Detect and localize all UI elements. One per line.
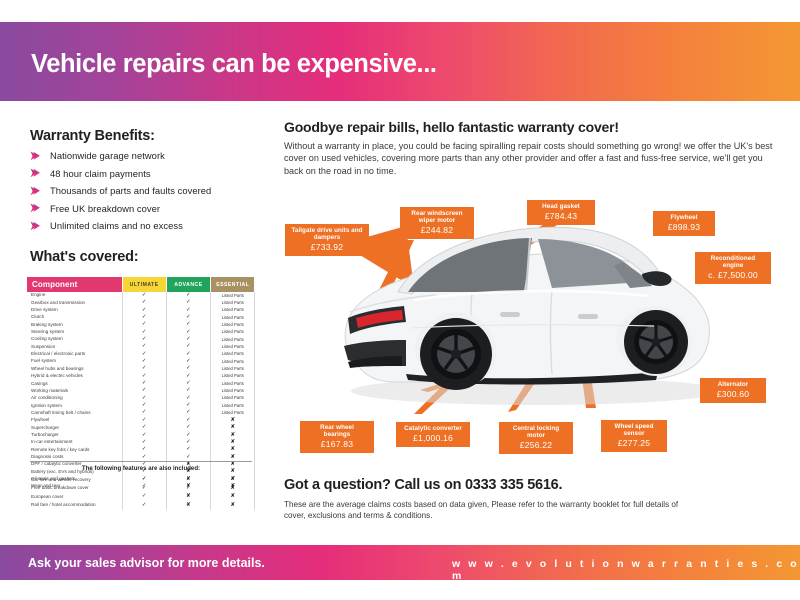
table-row: Steering system✓✓Listed Parts [27,329,255,336]
callout-label: Flywheel [659,214,709,221]
cell-tick: ✓ [122,424,166,431]
callout-label: Head gasket [533,203,589,210]
right-body-text: Without a warranty in place, you could b… [284,140,778,177]
cell-component: Diagnosis costs [27,454,122,461]
table-row: Working materials✓✓Listed Parts [27,387,255,394]
cell-tick: ✓ [122,493,166,501]
cell-text: Listed Parts [211,365,255,372]
cell-tick: ✓ [122,432,166,439]
extras-table: Car hire and vehicle recovery✓✓✘Free bas… [27,476,255,510]
cell-tick: ✓ [166,402,210,409]
table-row: Braking system✓✓Listed Parts [27,321,255,328]
cell-component: Gearbox and transmission [27,299,122,306]
table-row: Camshaft timing belt / chains✓✓Listed Pa… [27,410,255,417]
cell-text: Listed Parts [211,373,255,380]
cell-tick: ✓ [166,314,210,321]
cell-text: Listed Parts [211,329,255,336]
callout-amount: c. £7,500.00 [701,271,765,281]
cell-cross: ✘ [211,439,255,446]
cell-text: Listed Parts [211,292,255,299]
cell-tick: ✓ [122,484,166,492]
cell-component: Flywheel [27,417,122,424]
cell-component: Camshaft timing belt / chains [27,410,122,417]
cell-tick: ✓ [166,336,210,343]
warranty-benefits-list: Nationwide garage network48 hour claim p… [30,147,280,235]
coverage-table-container: Component ULTIMATE ADVANCE ESSENTIAL Eng… [27,277,255,490]
cell-tick: ✓ [122,314,166,321]
table-row: Flywheel✓✓✘ [27,417,255,424]
benefit-label: Thousands of parts and faults covered [50,185,211,196]
callout-amount: £784.43 [533,212,589,222]
cell-tick: ✓ [166,343,210,350]
whats-covered-heading: What's covered: [30,249,138,265]
callout-label: Alternator [706,381,760,388]
table-row: Free basic breakdown cover✓✓✘ [27,484,255,492]
benefit-item: Thousands of parts and faults covered [30,182,280,200]
cell-tick: ✓ [122,343,166,350]
cell-cross: ✘ [211,424,255,431]
callout-label: Rear wheel bearings [306,424,368,438]
cell-text: Listed Parts [211,351,255,358]
cell-cross: ✘ [166,501,210,509]
table-row: Car hire and vehicle recovery✓✓✘ [27,476,255,484]
right-heading: Goodbye repair bills, hello fantastic wa… [284,119,619,135]
table-row: European cover✓✘✘ [27,493,255,501]
benefit-label: Nationwide garage network [50,150,165,161]
col-header-component: Component [27,277,122,292]
cell-component: Electrical / electronic parts [27,351,122,358]
brochure-page: Vehicle repairs can be expensive... Warr… [0,0,800,600]
cell-cross: ✘ [166,493,210,501]
cell-component: In-car entertainment [27,439,122,446]
cell-cross: ✘ [211,432,255,439]
cell-component: Braking system [27,321,122,328]
benefit-label: Unlimited claims and no excess [50,220,183,231]
cell-text: Listed Parts [211,321,255,328]
table-row: Cooling system✓✓Listed Parts [27,336,255,343]
cell-tick: ✓ [166,446,210,453]
extras-table-container: Car hire and vehicle recovery✓✓✘Free bas… [27,476,255,510]
benefit-item: Nationwide garage network [30,147,280,165]
table-row: Rail fare / hotel accommodation✓✘✘ [27,501,255,509]
cell-tick: ✓ [166,292,210,299]
callout-amount: £898.93 [659,223,709,233]
cell-tick: ✓ [166,454,210,461]
callout-label: Rear windscreen wiper motor [406,210,468,224]
chevron-arrow-icon [30,151,50,161]
cell-component: Working materials [27,387,122,394]
callout-amount: £1,000.16 [402,434,464,444]
col-header-essential: ESSENTIAL [211,277,255,292]
cell-text: Listed Parts [211,402,255,409]
cell-tick: ✓ [122,417,166,424]
cell-tick: ✓ [166,484,210,492]
cell-tick: ✓ [166,476,210,484]
cell-text: Listed Parts [211,380,255,387]
cell-cross: ✘ [211,476,255,484]
table-row: Suspension✓✓Listed Parts [27,343,255,350]
cell-cross: ✘ [211,493,255,501]
cell-tick: ✓ [166,432,210,439]
cell-component: Air conditioning [27,395,122,402]
cell-cross: ✘ [211,417,255,424]
table-row: Drive system✓✓Listed Parts [27,307,255,314]
callout-amount: £277.25 [607,439,661,449]
benefit-item: Unlimited claims and no excess [30,217,280,235]
callout-central-locking-motor: Central locking motor£256.22 [499,422,573,454]
cell-component: Car hire and vehicle recovery [27,476,122,484]
callout-alternator: Alternator£300.60 [700,378,766,403]
coverage-table-header-row: Component ULTIMATE ADVANCE ESSENTIAL [27,277,255,292]
table-row: Clutch✓✓Listed Parts [27,314,255,321]
cell-tick: ✓ [166,299,210,306]
cell-cross: ✘ [211,484,255,492]
callout-flywheel: Flywheel£898.93 [653,211,715,236]
cell-tick: ✓ [166,395,210,402]
table-row: Hybrid & electric vehicles✓✓Listed Parts [27,373,255,380]
cell-tick: ✓ [166,439,210,446]
cell-tick: ✓ [122,365,166,372]
cell-tick: ✓ [166,410,210,417]
cell-tick: ✓ [122,358,166,365]
cell-component: Steering system [27,329,122,336]
cell-component: Remote key fobs / key cards [27,446,122,453]
cell-tick: ✓ [122,380,166,387]
callout-label: Catalytic converter [402,425,464,432]
cell-tick: ✓ [122,329,166,336]
footer-advisor-text: Ask your sales advisor for more details. [28,556,265,570]
cell-component: Supercharger [27,424,122,431]
callout-reconditioned-engine: Reconditioned enginec. £7,500.00 [695,252,771,284]
cell-text: Listed Parts [211,387,255,394]
callout-tailgate-drive-units: Tailgate drive units and dampers£733.92 [285,224,369,256]
callout-amount: £300.60 [706,390,760,400]
cell-tick: ✓ [166,417,210,424]
cell-component: Engine [27,292,122,299]
cell-tick: ✓ [166,351,210,358]
cell-component: Wheel hubs and bearings [27,365,122,372]
coverage-table: Component ULTIMATE ADVANCE ESSENTIAL Eng… [27,277,255,490]
cell-component: Suspension [27,343,122,350]
benefit-label: Free UK breakdown cover [50,203,160,214]
cell-tick: ✓ [122,292,166,299]
cell-tick: ✓ [166,329,210,336]
cell-tick: ✓ [166,365,210,372]
chevron-arrow-icon [30,203,50,213]
table-row: In-car entertainment✓✓✘ [27,439,255,446]
cell-tick: ✓ [122,336,166,343]
cell-component: Free basic breakdown cover [27,484,122,492]
table-row: Engine✓✓Listed Parts [27,292,255,299]
table-row: Fuel system✓✓Listed Parts [27,358,255,365]
cell-text: Listed Parts [211,410,255,417]
extras-divider [30,461,252,462]
benefit-label: 48 hour claim payments [50,168,151,179]
cell-text: Listed Parts [211,314,255,321]
cell-tick: ✓ [122,446,166,453]
chevron-arrow-icon [30,221,50,231]
table-row: Casings✓✓Listed Parts [27,380,255,387]
table-row: Air conditioning✓✓Listed Parts [27,395,255,402]
table-row: Supercharger✓✓✘ [27,424,255,431]
callout-label: Wheel speed sensor [607,423,661,437]
cell-tick: ✓ [166,373,210,380]
cell-tick: ✓ [166,307,210,314]
cell-tick: ✓ [122,402,166,409]
cell-tick: ✓ [122,476,166,484]
col-header-ultimate: ULTIMATE [122,277,166,292]
cell-tick: ✓ [166,380,210,387]
callout-amount: £733.92 [291,243,363,253]
benefit-item: 48 hour claim payments [30,165,280,183]
cell-text: Listed Parts [211,395,255,402]
callout-amount: £244.82 [406,226,468,236]
cell-tick: ✓ [122,321,166,328]
callout-wheel-speed-sensor: Wheel speed sensor£277.25 [601,420,667,452]
cell-component: European cover [27,493,122,501]
disclaimer-text: These are the average claims costs based… [284,499,684,521]
table-row: Wheel hubs and bearings✓✓Listed Parts [27,365,255,372]
cell-cross: ✘ [211,501,255,509]
cell-component: Cooling system [27,336,122,343]
callout-label: Central locking motor [505,425,567,439]
benefit-item: Free UK breakdown cover [30,200,280,218]
table-row: Turbocharger✓✓✘ [27,432,255,439]
col-header-advance: ADVANCE [166,277,210,292]
cell-tick: ✓ [122,387,166,394]
cell-tick: ✓ [122,351,166,358]
table-row: Gearbox and transmission✓✓Listed Parts [27,299,255,306]
cell-component: Ignition system [27,402,122,409]
cell-tick: ✓ [122,299,166,306]
cell-tick: ✓ [122,307,166,314]
table-row: Electrical / electronic parts✓✓Listed Pa… [27,351,255,358]
cell-component: Fuel system [27,358,122,365]
warranty-benefits-heading: Warranty Benefits: [30,128,155,144]
callout-rear-windscreen-wiper-motor: Rear windscreen wiper motor£244.82 [400,207,474,239]
cell-component: Hybrid & electric vehicles [27,373,122,380]
table-row: Remote key fobs / key cards✓✓✘ [27,446,255,453]
cell-tick: ✓ [122,501,166,509]
cell-component: Rail fare / hotel accommodation [27,501,122,509]
callout-amount: £167.83 [306,440,368,450]
cell-tick: ✓ [122,410,166,417]
cell-tick: ✓ [166,387,210,394]
cell-tick: ✓ [122,439,166,446]
cell-tick: ✓ [166,321,210,328]
page-title: Vehicle repairs can be expensive... [31,50,437,79]
callout-label: Tailgate drive units and dampers [291,227,363,241]
callout-label: Reconditioned engine [701,255,765,269]
chevron-arrow-icon [30,168,50,178]
callout-head-gasket: Head gasket£784.43 [527,200,595,225]
cta-heading: Got a question? Call us on 0333 335 5616… [284,477,562,493]
callout-amount: £256.22 [505,441,567,451]
cell-text: Listed Parts [211,299,255,306]
cell-component: Turbocharger [27,432,122,439]
extras-heading: The following features are also included… [27,465,255,472]
cell-tick: ✓ [166,424,210,431]
cell-component: Casings [27,380,122,387]
chevron-arrow-icon [30,186,50,196]
cell-text: Listed Parts [211,336,255,343]
cell-tick: ✓ [122,395,166,402]
callout-rear-wheel-bearings: Rear wheel bearings£167.83 [300,421,374,453]
cell-tick: ✓ [122,454,166,461]
cell-tick: ✓ [122,373,166,380]
table-row: Ignition system✓✓Listed Parts [27,402,255,409]
callout-catalytic-converter: Catalytic converter£1,000.16 [396,422,470,447]
cell-cross: ✘ [211,446,255,453]
cell-cross: ✘ [211,454,255,461]
cell-text: Listed Parts [211,343,255,350]
cell-text: Listed Parts [211,358,255,365]
footer-website-url[interactable]: w w w . e v o l u t i o n w a r r a n t … [452,558,800,582]
cell-component: Drive system [27,307,122,314]
cell-tick: ✓ [166,358,210,365]
table-row: Diagnosis costs✓✓✘ [27,454,255,461]
cell-text: Listed Parts [211,307,255,314]
cell-component: Clutch [27,314,122,321]
